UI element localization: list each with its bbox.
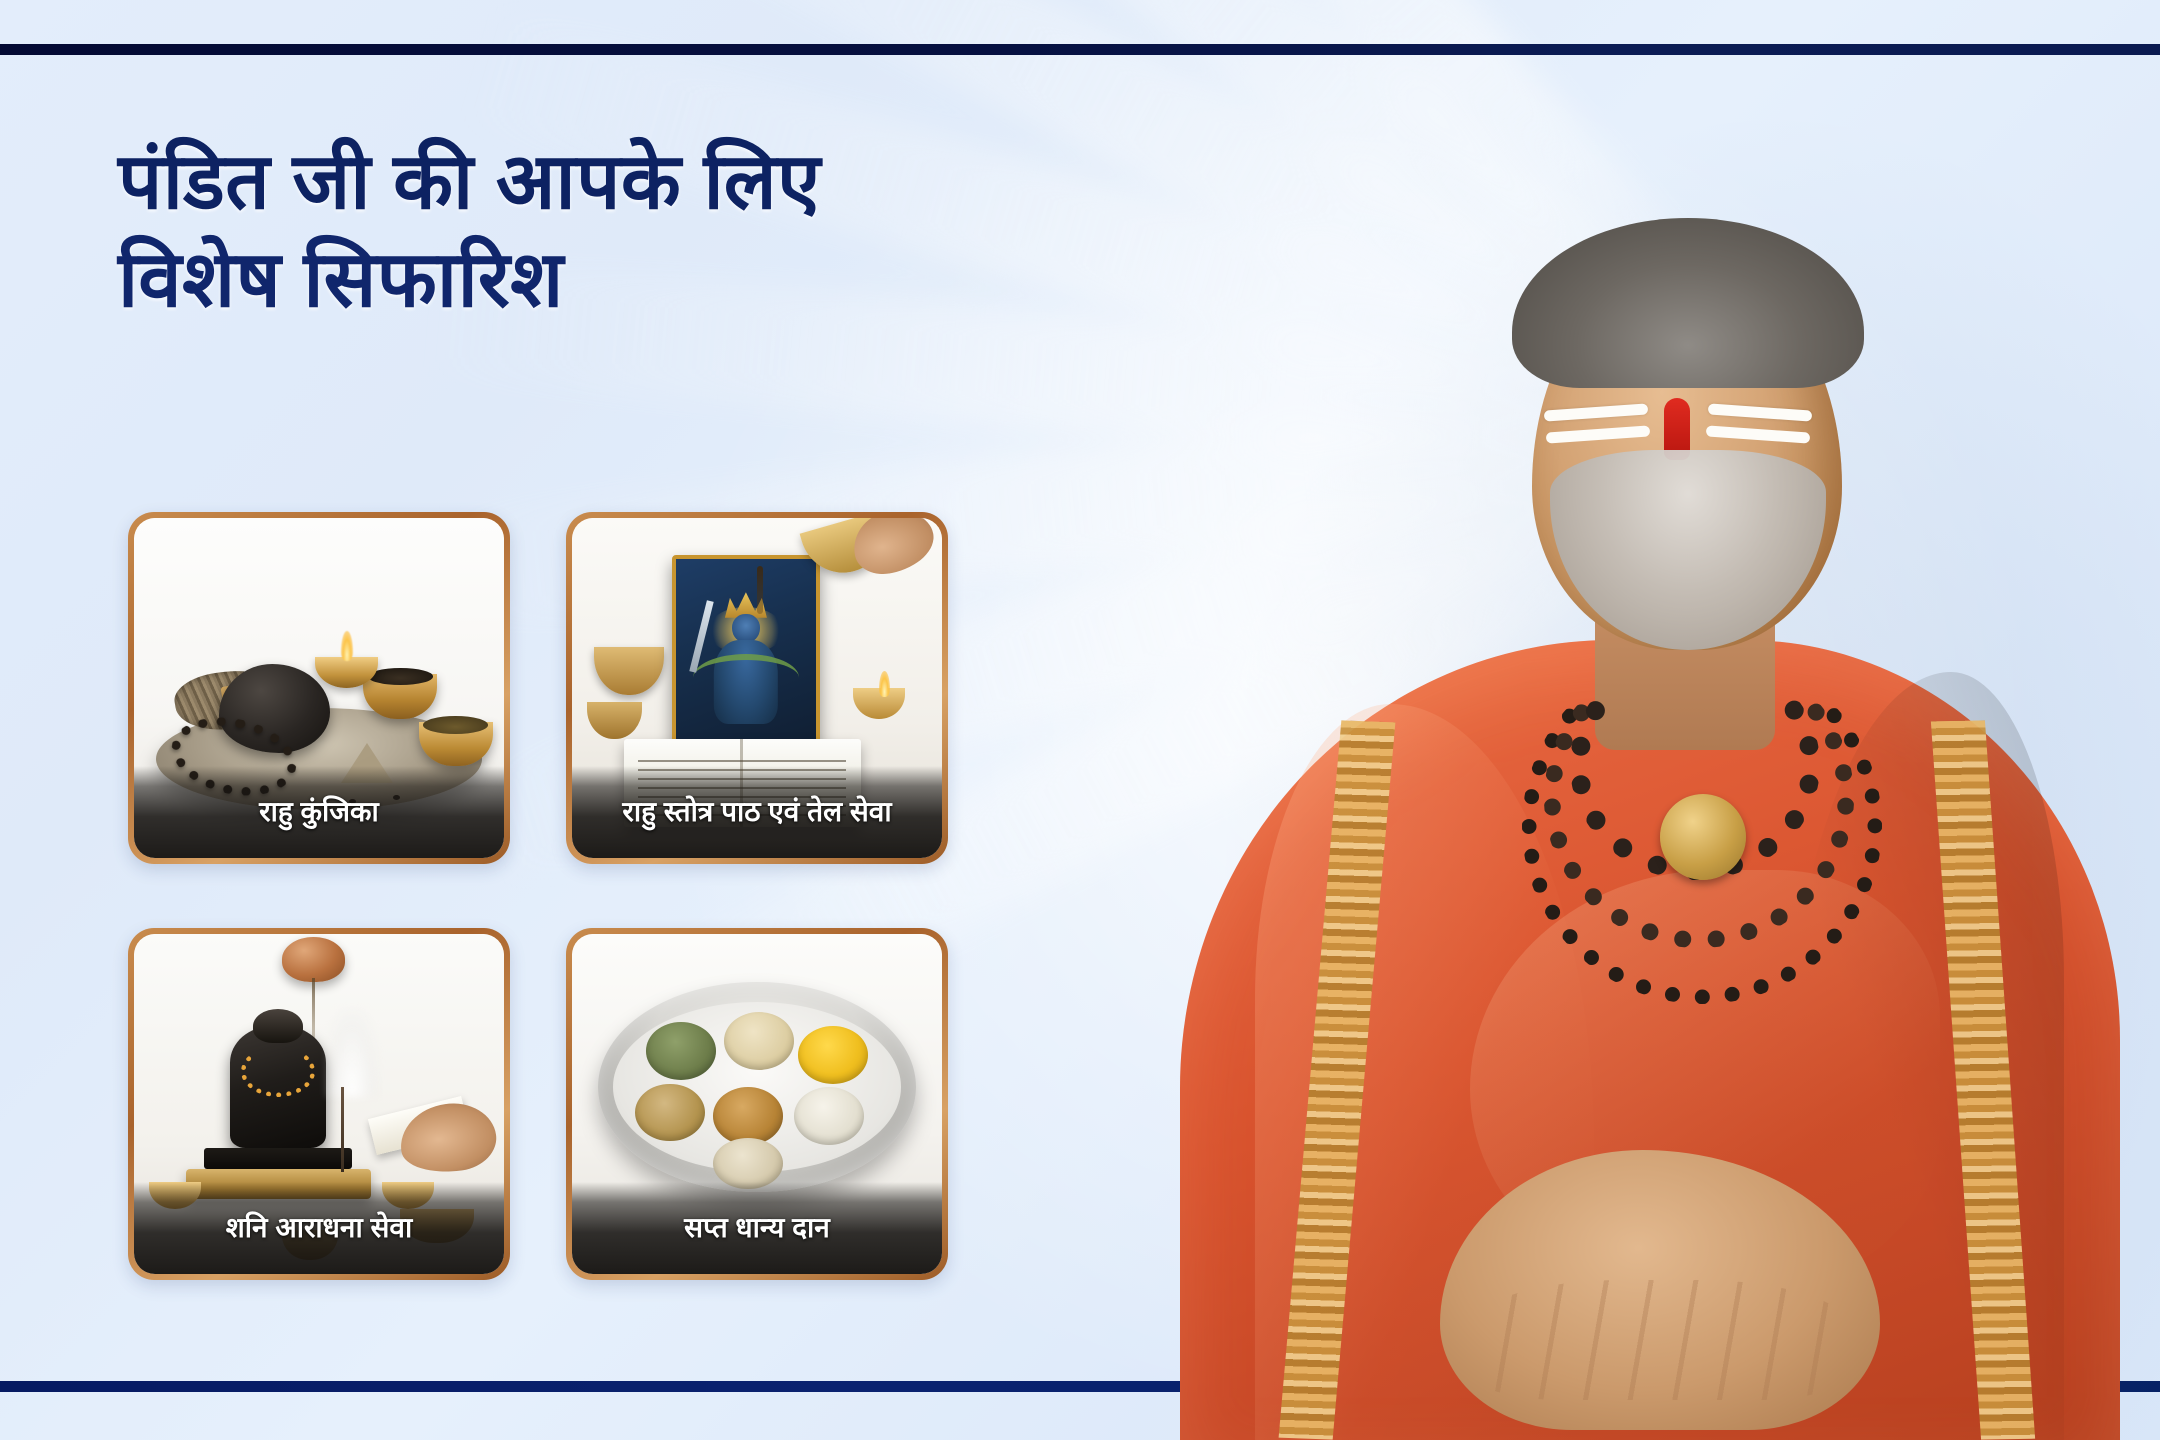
top-divider-rule	[0, 44, 2160, 55]
page-title: पंडित जी की आपके लिए विशेष सिफारिश	[118, 132, 821, 329]
recommendation-card-sapt-dhanya-daan[interactable]: सप्त धान्य दान	[566, 928, 948, 1280]
card-caption: राहु कुंजिका	[134, 766, 504, 858]
headline-line-2: विशेष सिफारिश	[118, 230, 821, 328]
promo-banner: पंडित जी की आपके लिए विशेष सिफारिश	[0, 0, 2160, 1440]
bottom-divider-rule	[0, 1381, 2160, 1392]
recommendation-card-shani-aradhana-seva[interactable]: शनि आराधना सेवा	[128, 928, 510, 1280]
recommendation-card-rahu-stotra-oil-seva[interactable]: राहु स्तोत्र पाठ एवं तेल सेवा	[566, 512, 948, 864]
headline-line-1: पंडित जी की आपके लिए	[118, 132, 821, 230]
pandit-portrait-image	[1140, 0, 2160, 1440]
background-rays	[821, 0, 2160, 1324]
card-caption: राहु स्तोत्र पाठ एवं तेल सेवा	[572, 766, 942, 858]
recommendation-card-rahu-kunjika[interactable]: राहु कुंजिका	[128, 512, 510, 864]
recommendation-grid: राहु कुंजिका	[128, 512, 948, 1280]
card-caption: शनि आराधना सेवा	[134, 1182, 504, 1274]
card-caption: सप्त धान्य दान	[572, 1182, 942, 1274]
